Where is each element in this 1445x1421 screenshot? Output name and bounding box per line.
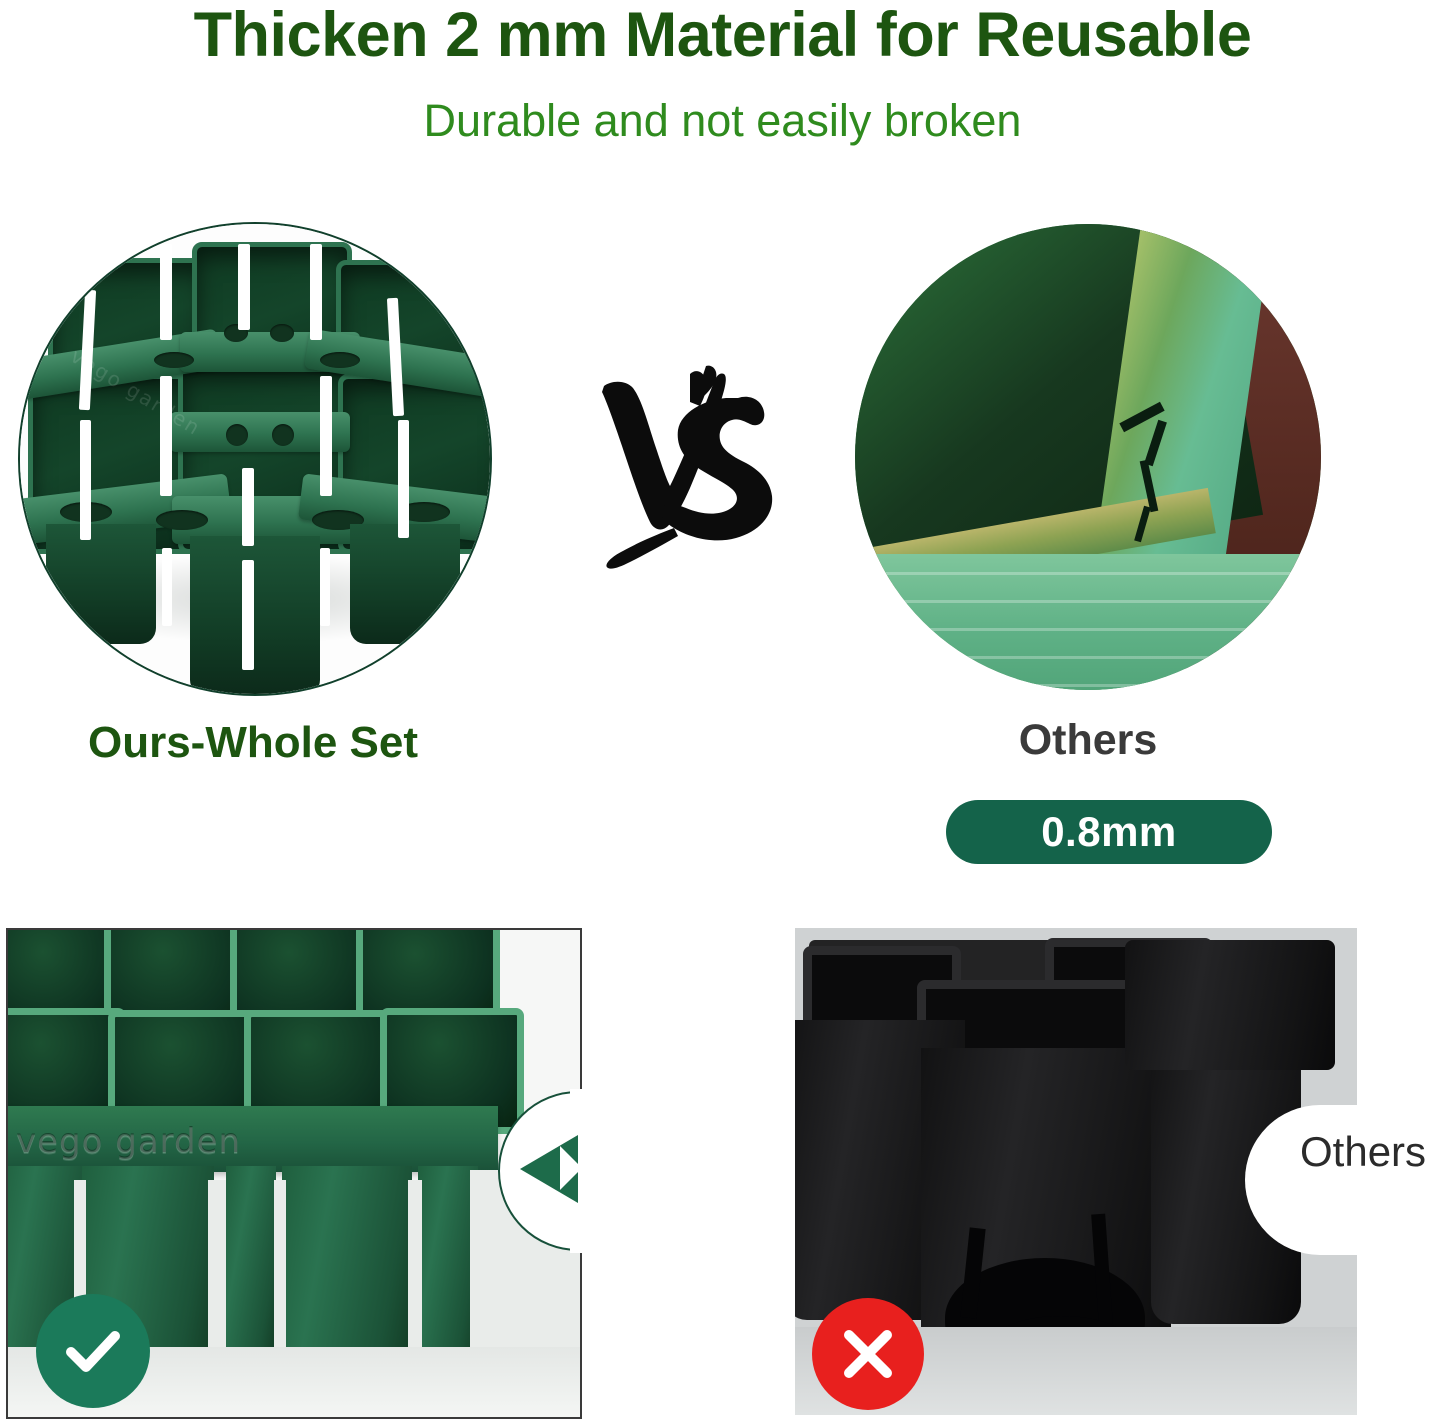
others-label: Others <box>855 716 1321 765</box>
check-icon <box>57 1315 129 1387</box>
cross-status-badge <box>812 1298 924 1410</box>
others-product-photo-circle <box>855 224 1321 690</box>
page-subtitle: Durable and not easily broken <box>0 96 1445 146</box>
arrow-left-icon-tail <box>560 1146 582 1190</box>
ours-product-photo-circle: vego garden <box>18 222 492 696</box>
brand-emboss: vego garden <box>16 1122 241 1162</box>
page-title: Thicken 2 mm Material for Reusable <box>0 2 1445 68</box>
infographic-page: Thicken 2 mm Material for Reusable Durab… <box>0 0 1445 1421</box>
thickness-badge-value: 0.8mm <box>1041 811 1177 853</box>
thickness-badge: 0.8mm <box>946 800 1272 864</box>
vs-brush-mark <box>586 358 786 573</box>
others-bottom-label: Others <box>1300 1128 1426 1176</box>
cracked-pot-illustration <box>855 224 1321 690</box>
check-status-badge <box>36 1294 150 1408</box>
x-icon <box>833 1319 903 1389</box>
green-tray-illustration: vego garden <box>20 224 490 694</box>
ours-label: Ours-Whole Set <box>18 718 488 768</box>
